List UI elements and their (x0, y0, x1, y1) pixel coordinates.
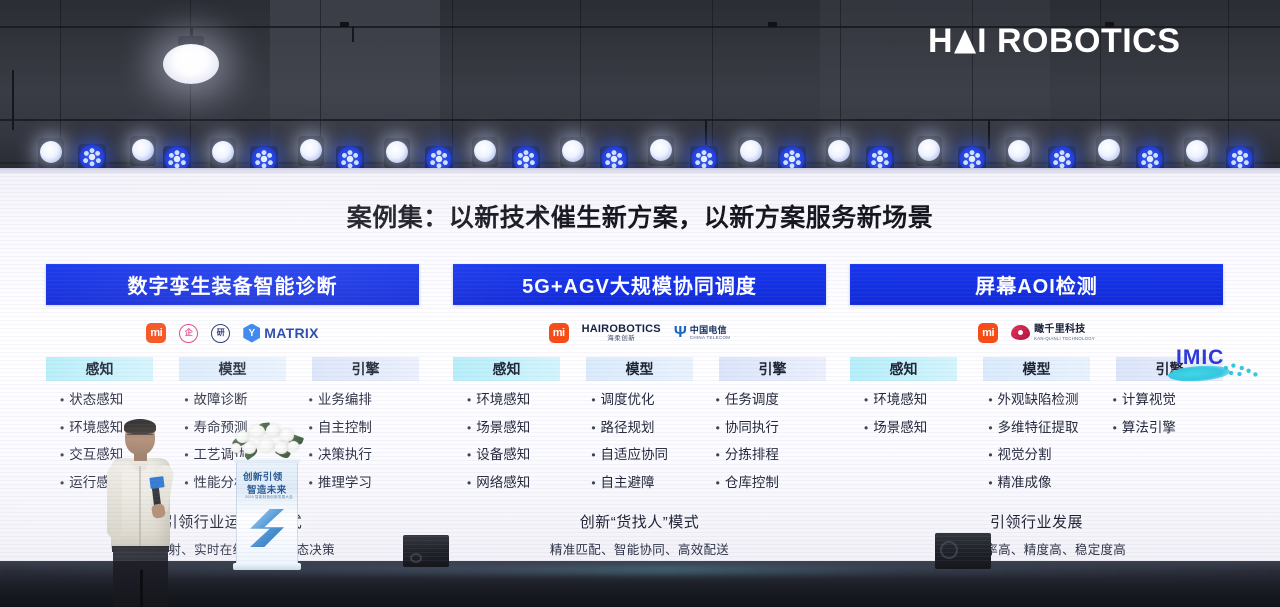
presenter-shirt-placket (139, 466, 141, 546)
matrix-logo: Y MATRIX (243, 324, 318, 343)
matrix-wordmark: MATRIX (264, 325, 318, 341)
list-item: 环境感知 (864, 393, 974, 407)
presenter-leg-gap (140, 570, 143, 607)
list-item: 自主避障 (591, 476, 701, 490)
podium-slogan-line1: 创新引领 (243, 469, 293, 483)
list-item: 设备感知 (467, 448, 577, 462)
list-item: 调度优化 (591, 393, 701, 407)
screen-top-edge (0, 168, 1280, 174)
column-list-model: 调度优化 路径规划 自适应协同 自主避障 (577, 393, 701, 503)
list-item: 场景感知 (467, 421, 577, 435)
column-lists: 环境感知 场景感知 外观缺陷检测 多维特征提取 视觉分割 精准成像 计算视觉 算… (850, 393, 1223, 503)
panel-title: 数字孪生装备智能诊断 (128, 270, 338, 299)
speaker-grille (940, 541, 958, 559)
brand-suffix: I ROBOTICS (977, 22, 1180, 61)
microphone-flag (149, 476, 164, 489)
badge-glyph: 研 (217, 329, 225, 337)
column-header-engine: 引擎 (312, 357, 419, 381)
case-panel-digital-twin: 数字孪生装备智能诊断 mi 企 研 Y MATRIX 感知 模型 引擎 状态感知… (46, 264, 419, 558)
column-list-engine: 业务编排 自主控制 决策执行 推理学习 (295, 393, 419, 503)
podium-base (233, 563, 301, 570)
panel-header: 屏幕AOI检测 (850, 264, 1223, 305)
matrix-hexagon-icon: Y (243, 324, 260, 343)
imic-logo-text: IMIC (1176, 346, 1224, 370)
panel-footer: 引领行业发展 检测效率高、精度高、稳定度高 (850, 511, 1223, 558)
column-header-model: 模型 (179, 357, 286, 381)
xiaomi-logo-icon: mi (978, 323, 998, 343)
footer-subtext: 精准匹配、智能协同、高效配送 (453, 539, 826, 558)
list-item: 计算视觉 (1113, 393, 1223, 407)
panel-footer: 创新“货找人”模式 精准匹配、智能协同、高效配送 (453, 511, 826, 558)
list-item: 分拣排程 (716, 448, 826, 462)
conference-stage-photo: HI ROBOTICS IMIC 案例集：以新技术催生新方案，以新方案服务新场景… (0, 0, 1280, 607)
case-panel-screen-aoi: 屏幕AOI检测 mi 瞰千里科技 KAN-QIANLI TECHNOLOGY 感… (850, 264, 1223, 558)
list-item: 状态感知 (60, 393, 170, 407)
column-headers: 感知 模型 引擎 (46, 357, 419, 381)
china-telecom-logo: Ψ 中国电信 CHINA TELECOM (674, 324, 731, 342)
list-item: 视觉分割 (988, 448, 1098, 462)
list-item: 外观缺陷检测 (988, 393, 1098, 407)
list-item: 路径规划 (591, 421, 701, 435)
list-item: 精准成像 (988, 476, 1098, 490)
footer-subtext: 检测效率高、精度高、稳定度高 (850, 539, 1223, 558)
column-list-perception: 环境感知 场景感知 设备感知 网络感知 (453, 393, 577, 503)
badge-glyph: 企 (185, 329, 193, 337)
hai-robotics-wordmark: HI ROBOTICS (928, 22, 1180, 61)
footer-headline: 创新“货找人”模式 (453, 511, 826, 532)
column-list-engine: 计算视觉 算法引擎 (1099, 393, 1223, 503)
glasses-icon (127, 434, 153, 441)
column-header-engine: 引擎 (719, 357, 826, 381)
stage-monitor-speaker-right (935, 533, 991, 569)
pendant-light-globe (163, 44, 219, 84)
column-header-perception: 感知 (453, 357, 560, 381)
column-header-model: 模型 (983, 357, 1090, 381)
eye-icon (1011, 325, 1030, 340)
list-item: 任务调度 (716, 393, 826, 407)
presenter-hair (124, 419, 156, 434)
hairobotics-subtext: 海柔创新 (607, 336, 635, 343)
imic-pixel-dots-icon (1222, 362, 1260, 382)
list-item: 协同执行 (716, 421, 826, 435)
footer-subtext: 精准映射、实时在线、智能动态决策 (46, 539, 419, 558)
telecom-subtext: CHINA TELECOM (690, 336, 731, 341)
kanqianli-logo: 瞰千里科技 KAN-QIANLI TECHNOLOGY (1011, 325, 1095, 341)
podium-event-line: 2025 智能制造创新发展大会 (245, 495, 297, 500)
stage-monitor-speaker-left (403, 535, 449, 567)
list-item: 业务编排 (309, 393, 419, 407)
stage-floor (0, 561, 1280, 607)
list-item: 决策执行 (309, 448, 419, 462)
telecom-mark-icon: Ψ (674, 324, 687, 342)
case-panel-5g-agv: 5G+AGV大规模协同调度 mi HAIROBOTICS 海柔创新 Ψ 中国电信… (453, 264, 826, 558)
list-item: 故障诊断 (184, 393, 294, 407)
brand-prefix: H (928, 22, 953, 61)
xiaomi-logo-icon: mi (549, 323, 569, 343)
kanqianli-subtext: KAN-QIANLI TECHNOLOGY (1034, 337, 1095, 341)
presenter-speaker (103, 420, 181, 607)
column-header-model: 模型 (586, 357, 693, 381)
column-header-perception: 感知 (850, 357, 957, 381)
footer-headline: 引领行业运维新模式 (46, 511, 419, 532)
list-item: 自主控制 (309, 421, 419, 435)
podium-slogan-line2: 智造未来 (247, 482, 297, 496)
xiaomi-logo-icon: mi (146, 323, 166, 343)
list-item: 网络感知 (467, 476, 577, 490)
panel-footer: 引领行业运维新模式 精准映射、实时在线、智能动态决策 (46, 511, 419, 558)
podium-flower-arrangement (230, 421, 306, 465)
hairobotics-logo: HAIROBOTICS 海柔创新 (582, 324, 661, 343)
panel-partner-logos: mi HAIROBOTICS 海柔创新 Ψ 中国电信 CHINA TELECOM (453, 313, 826, 353)
list-item: 仓库控制 (716, 476, 826, 490)
list-item: 环境感知 (467, 393, 577, 407)
list-item: 场景感知 (864, 421, 974, 435)
column-lists: 环境感知 场景感知 设备感知 网络感知 调度优化 路径规划 自适应协同 自主避障… (453, 393, 826, 503)
partner-badge-pink-icon: 企 (179, 324, 198, 343)
column-list-perception: 环境感知 场景感知 (850, 393, 974, 503)
kanqianli-wordmark: 瞰千里科技 (1034, 325, 1095, 335)
column-list-model: 外观缺陷检测 多维特征提取 视觉分割 精准成像 (974, 393, 1098, 503)
telecom-wordmark: 中国电信 (690, 326, 731, 335)
list-item: 多维特征提取 (988, 421, 1098, 435)
partner-badge-navy-icon: 研 (211, 324, 230, 343)
hairobotics-wordmark: HAIROBOTICS (582, 324, 661, 335)
list-item: 自适应协同 (591, 448, 701, 462)
presenter-left-arm (107, 466, 122, 538)
slide-title: 案例集：以新技术催生新方案，以新方案服务新场景 (0, 198, 1280, 234)
speaker-grille (410, 553, 422, 563)
column-headers: 感知 模型 引擎 (453, 357, 826, 381)
column-list-engine: 任务调度 协同执行 分拣排程 仓库控制 (702, 393, 826, 503)
list-item: 算法引擎 (1113, 421, 1223, 435)
column-header-perception: 感知 (46, 357, 153, 381)
panel-title: 5G+AGV大规模协同调度 (522, 270, 757, 299)
imic-event-logo: IMIC (1166, 346, 1262, 386)
triangle-a-icon (954, 30, 976, 54)
panel-partner-logos: mi 企 研 Y MATRIX (46, 313, 419, 353)
panel-title: 屏幕AOI检测 (975, 270, 1098, 299)
footer-headline: 引领行业发展 (850, 511, 1223, 532)
panel-header: 数字孪生装备智能诊断 (46, 264, 419, 305)
panel-header: 5G+AGV大规模协同调度 (453, 264, 826, 305)
list-item: 推理学习 (309, 476, 419, 490)
speaker-podium: 创新引领 智造未来 2025 智能制造创新发展大会 (236, 425, 306, 575)
floor-reflection (0, 565, 1280, 575)
